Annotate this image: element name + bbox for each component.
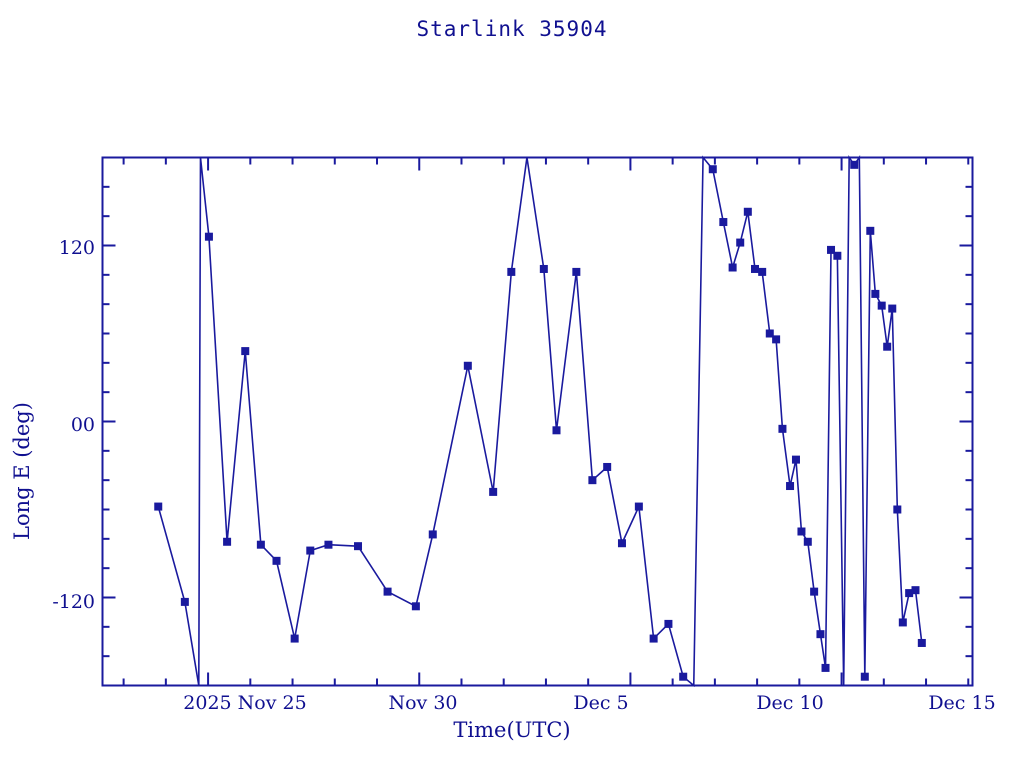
data-series-long-e [158, 158, 922, 686]
plot-canvas [0, 0, 1024, 768]
plot-figure: Starlink 35904 Long E (deg) Time(UTC) 12… [0, 0, 1024, 768]
